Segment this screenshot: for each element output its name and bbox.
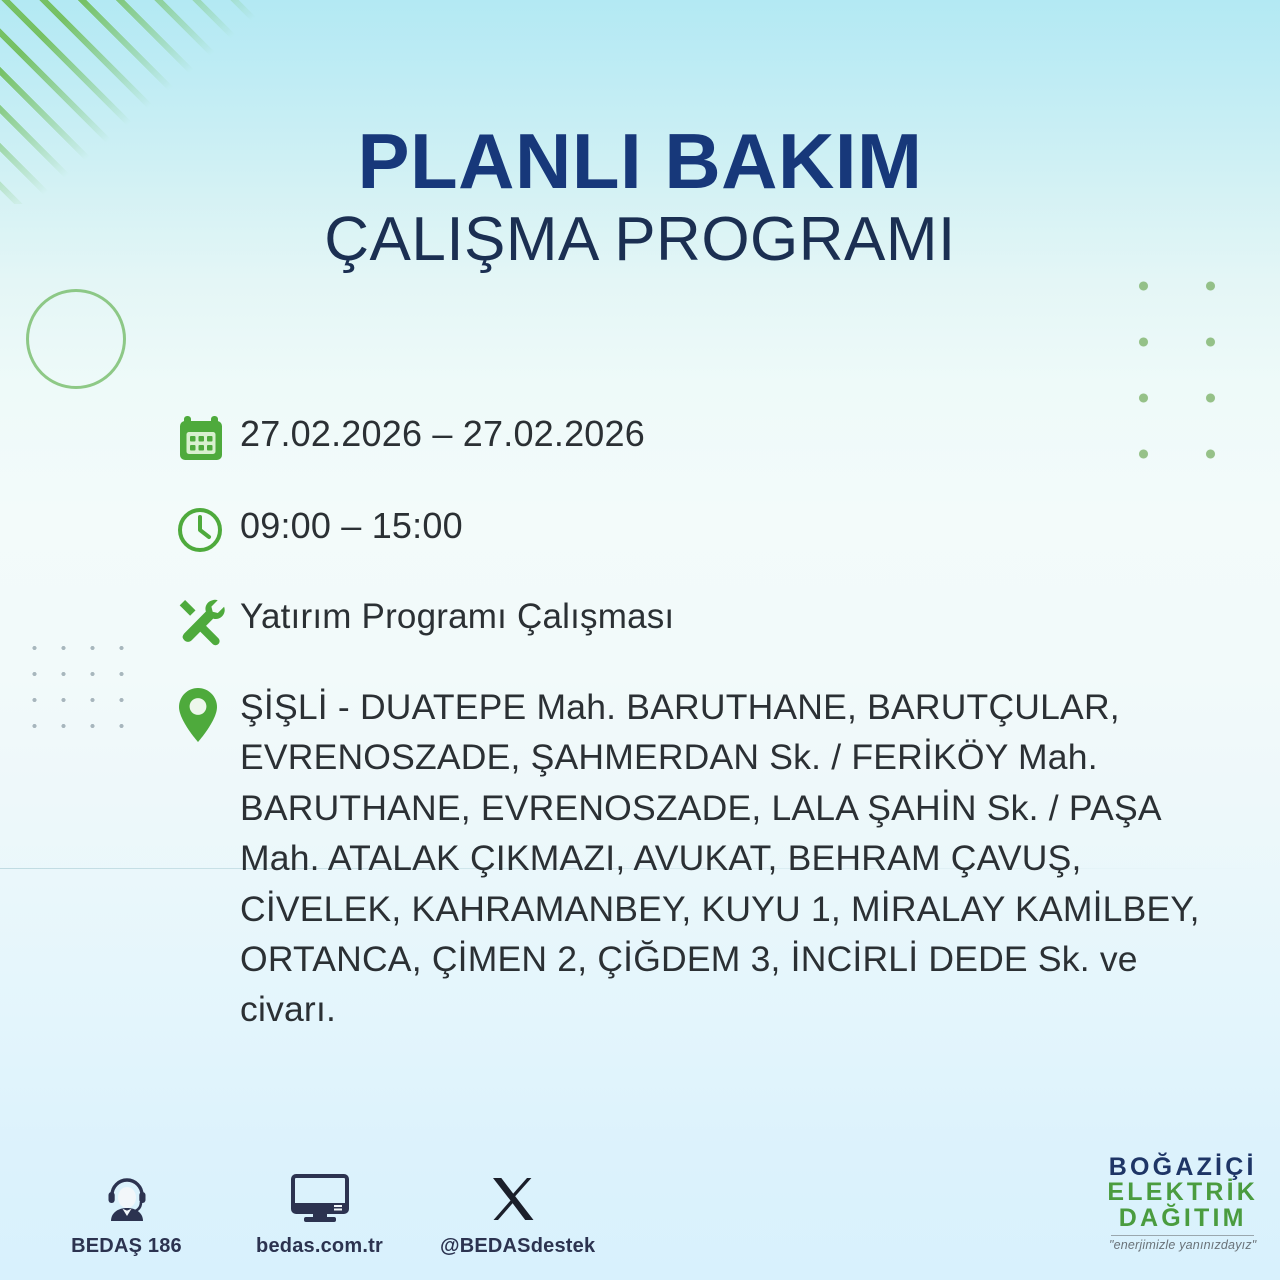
contact-item-social[interactable]: @BEDASdestek [440,1167,585,1258]
contact-item-phone[interactable]: BEDAŞ 186 [54,1167,199,1258]
brand-line-bogazici: BOĞAZİÇİ [1107,1155,1258,1181]
monitor-icon [247,1167,392,1225]
info-row-time: 09:00 – 15:00 [176,498,1246,560]
contact-label-phone: BEDAŞ 186 [54,1235,199,1258]
brand-divider [1111,1235,1254,1236]
info-list: 27.02.2026 – 27.02.2026 09:00 – 15:00 [176,406,1246,1035]
calendar-icon [176,406,240,468]
poster-header: PLANLI BAKIM ÇALIŞMA PROGRAMI [0,124,1280,272]
page-subtitle: ÇALIŞMA PROGRAMI [0,207,1280,272]
contact-label-social: @BEDASdestek [440,1235,585,1258]
location-text: ŞİŞLİ - DUATEPE Mah. BARUTHANE, BARUTÇUL… [240,682,1225,1035]
info-row-location: ŞİŞLİ - DUATEPE Mah. BARUTHANE, BARUTÇUL… [176,682,1246,1035]
map-pin-icon [176,682,240,744]
x-twitter-icon [440,1167,585,1225]
poster-footer: BEDAŞ 186 bedas.com.tr [0,1120,1280,1280]
info-row-work-type: Yatırım Programı Çalışması [176,590,1246,652]
contact-item-website[interactable]: bedas.com.tr [247,1167,392,1258]
contact-list: BEDAŞ 186 bedas.com.tr [54,1167,585,1258]
brand-line-dagitim: DAĞITIM [1107,1206,1258,1232]
brand-logo: BOĞAZİÇİ ELEKTRİK DAĞITIM "enerjimizle y… [1107,1155,1258,1252]
brand-line-elektrik: ELEKTRİK [1107,1180,1258,1206]
info-row-date: 27.02.2026 – 27.02.2026 [176,406,1246,468]
time-range-text: 09:00 – 15:00 [240,498,1246,548]
work-type-text: Yatırım Programı Çalışması [240,590,1246,639]
tools-icon [176,590,240,652]
contact-label-website: bedas.com.tr [247,1235,392,1258]
page-title: PLANLI BAKIM [0,124,1280,199]
brand-tagline: "enerjimizle yanınızdayız" [1107,1239,1258,1252]
clock-icon [176,498,240,560]
dot-grid-left-decoration [20,635,132,739]
headset-support-icon [54,1167,199,1225]
date-range-text: 27.02.2026 – 27.02.2026 [240,406,1246,456]
planned-maintenance-poster: PLANLI BAKIM ÇALIŞMA PROGRAMI [0,0,1280,1280]
circle-ring-decoration [26,289,126,389]
